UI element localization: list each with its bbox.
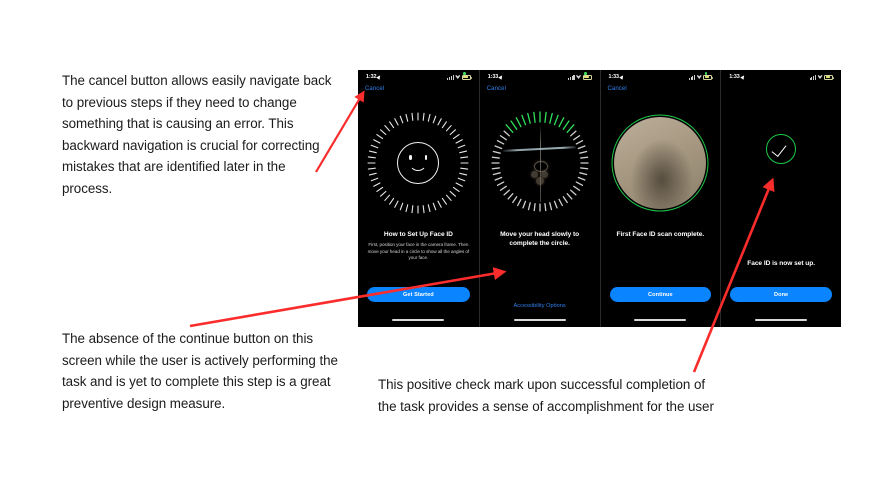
- annotation-missing-continue-button: The absence of the continue button on th…: [62, 328, 352, 414]
- screen-3-title: First Face ID scan complete.: [607, 230, 715, 239]
- recording-indicator-icon: [463, 72, 466, 75]
- screen-4-title: Face ID is now set up.: [727, 259, 835, 268]
- screen-1-title: How to Set Up Face ID: [364, 230, 473, 239]
- check-ring-wrap: [729, 111, 833, 215]
- screen-face-id-set-up: 1:33 Face ID is now set up. Done: [720, 70, 841, 327]
- slide-canvas: The cancel button allows easily navigate…: [0, 0, 895, 503]
- location-arrow-icon: [377, 75, 381, 79]
- battery-icon: [703, 75, 712, 80]
- home-indicator-4[interactable]: [755, 319, 807, 321]
- status-time-1: 1:32: [366, 74, 381, 80]
- location-arrow-icon: [620, 75, 624, 79]
- screen-2-title: Move your head slowly to complete the ci…: [486, 230, 594, 248]
- recording-indicator-icon: [705, 72, 708, 75]
- progress-ticks-svg: [488, 111, 592, 215]
- dashed-ring: [366, 111, 470, 215]
- status-bar-4: 1:33: [721, 70, 841, 83]
- scan-complete-viewfinder: [601, 100, 721, 225]
- annotation-cancel-button: The cancel button allows easily navigate…: [62, 70, 337, 199]
- face-scan-viewfinder: [480, 100, 600, 225]
- smiley-mouth: [409, 161, 427, 171]
- cellular-signal-icon: [447, 75, 453, 80]
- screen-1-text-block: How to Set Up Face ID First, position yo…: [364, 230, 473, 262]
- status-bar-2: 1:33: [480, 70, 600, 83]
- cellular-signal-icon: [689, 75, 695, 80]
- status-indicators-4: [810, 74, 833, 80]
- status-bar-1: 1:32: [358, 70, 479, 83]
- green-completion-ring: [612, 114, 709, 211]
- phone-screens-panel: 1:32 Cancel: [358, 70, 841, 327]
- smiley-eye-right: [425, 155, 428, 160]
- location-arrow-icon: [741, 75, 745, 79]
- screen-4-text-block: Face ID is now set up.: [727, 259, 835, 268]
- wifi-icon: [818, 74, 823, 79]
- status-indicators-1: [447, 74, 470, 80]
- status-indicators-2: [568, 74, 591, 80]
- home-indicator-1[interactable]: [392, 319, 444, 321]
- battery-icon: [583, 75, 592, 80]
- cancel-button-1[interactable]: Cancel: [365, 86, 384, 92]
- screen-1-subtitle: First, position your face in the camera …: [364, 242, 473, 262]
- annotation-check-mark: This positive check mark upon successful…: [378, 374, 718, 417]
- smiley-eye-left: [409, 155, 412, 160]
- continue-button[interactable]: Continue: [610, 287, 712, 302]
- green-check-icon: [766, 134, 796, 164]
- done-button[interactable]: Done: [730, 287, 832, 302]
- cellular-signal-icon: [568, 75, 574, 80]
- wifi-icon: [455, 74, 460, 79]
- status-time-label: 1:33: [609, 74, 619, 80]
- status-time-4: 1:33: [729, 74, 744, 80]
- battery-icon: [462, 75, 471, 80]
- status-time-2: 1:33: [488, 74, 503, 80]
- smiley-face-icon: [397, 142, 439, 184]
- screen-first-scan-complete: 1:33 Cancel First Face ID scan comp: [600, 70, 721, 327]
- screen-how-to-set-up-face-id: 1:32 Cancel: [358, 70, 479, 327]
- status-indicators-3: [689, 74, 712, 80]
- scan-progress-ring: [488, 111, 592, 215]
- cancel-button-2[interactable]: Cancel: [487, 86, 506, 92]
- wifi-icon: [576, 74, 581, 79]
- cancel-button-3[interactable]: Cancel: [608, 86, 627, 92]
- status-bar-3: 1:33: [601, 70, 721, 83]
- get-started-button[interactable]: Get Started: [367, 287, 470, 302]
- battery-icon: [824, 75, 833, 80]
- completed-ring: [608, 111, 712, 215]
- face-id-illustration: [358, 100, 479, 225]
- screen-3-text-block: First Face ID scan complete.: [607, 230, 715, 239]
- recording-indicator-icon: [584, 72, 587, 75]
- cellular-signal-icon: [810, 75, 816, 80]
- location-arrow-icon: [499, 75, 503, 79]
- status-time-label: 1:33: [729, 74, 739, 80]
- status-time-label: 1:32: [366, 74, 376, 80]
- status-time-3: 1:33: [609, 74, 624, 80]
- screen-move-your-head: 1:33 Cancel: [479, 70, 600, 327]
- home-indicator-3[interactable]: [634, 319, 686, 321]
- accessibility-options-link[interactable]: Accessibility Options: [480, 303, 600, 309]
- screen-2-text-block: Move your head slowly to complete the ci…: [486, 230, 594, 248]
- success-indicator: [721, 100, 841, 225]
- status-time-label: 1:33: [488, 74, 498, 80]
- wifi-icon: [697, 74, 702, 79]
- home-indicator-2[interactable]: [514, 319, 566, 321]
